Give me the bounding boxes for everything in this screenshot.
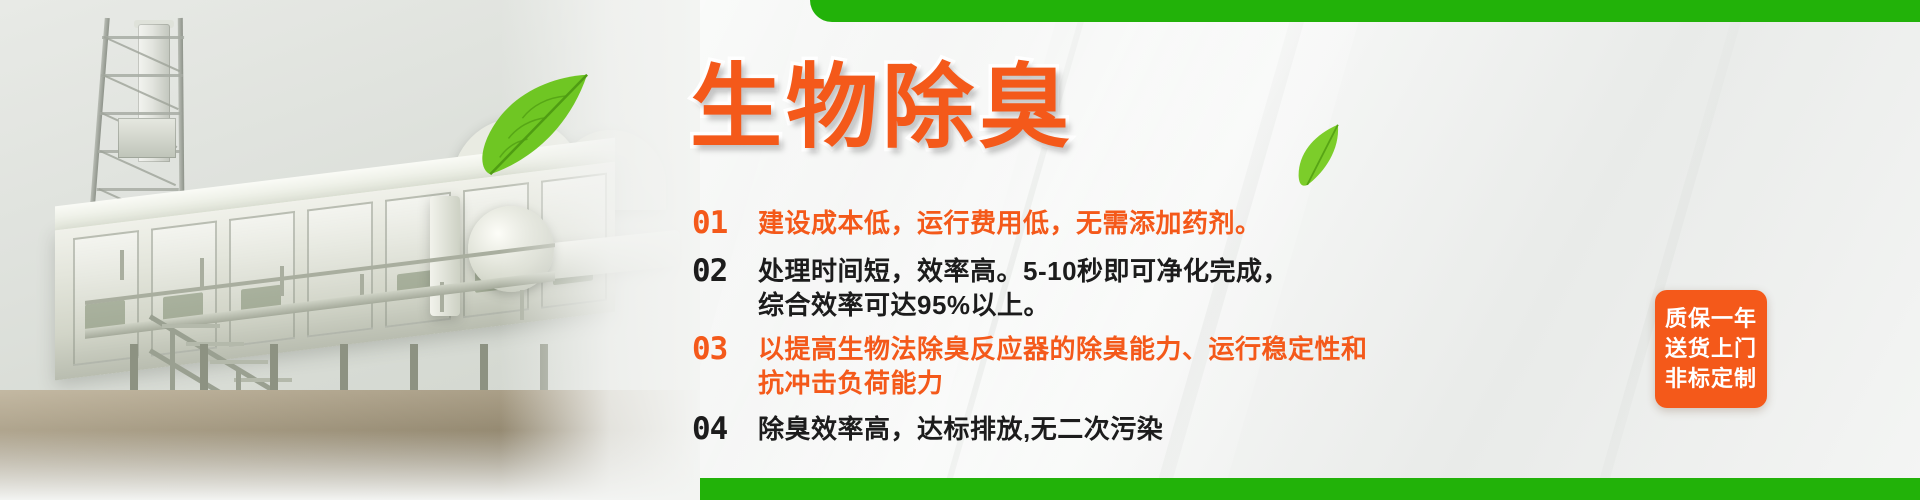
feature-item-01: 01 建设成本低，运行费用低，无需添加药剂。 (692, 206, 1692, 240)
feature-item-04: 04 除臭效率高，达标排放,无二次污染 (692, 412, 1692, 446)
feature-number: 02 (692, 254, 754, 288)
content-column: 生物除臭 01 建设成本低，运行费用低，无需添加药剂。 02 处理时间短，效率高… (680, 0, 1920, 500)
feature-line-2: 抗冲击负荷能力 (758, 366, 1368, 400)
feature-line-2: 综合效率可达95%以上。 (758, 288, 1289, 322)
feature-number: 01 (692, 206, 754, 240)
feature-text: 建设成本低，运行费用低，无需添加药剂。 (754, 206, 1262, 240)
badge-line-3: 非标定制 (1665, 364, 1757, 394)
equipment-photo (0, 0, 700, 500)
feature-item-02: 02 处理时间短，效率高。5-10秒即可净化完成， 综合效率可达95%以上。 (692, 254, 1692, 322)
feature-line-1: 除臭效率高，达标排放,无二次污染 (758, 414, 1163, 444)
feature-number: 03 (692, 332, 754, 366)
badge-line-2: 送货上门 (1665, 334, 1757, 364)
guarantee-badge[interactable]: 质保一年 送货上门 非标定制 (1655, 290, 1767, 408)
page-title: 生物除臭 (690, 62, 1074, 154)
promo-banner: 生物除臭 01 建设成本低，运行费用低，无需添加药剂。 02 处理时间短，效率高… (0, 0, 1920, 500)
feature-line-1: 处理时间短，效率高。5-10秒即可净化完成， (758, 256, 1289, 286)
feature-line-1: 以提高生物法除臭反应器的除臭能力、运行稳定性和 (758, 334, 1368, 364)
feature-text: 以提高生物法除臭反应器的除臭能力、运行稳定性和 抗冲击负荷能力 (754, 332, 1368, 400)
feature-text: 除臭效率高，达标排放,无二次污染 (754, 412, 1163, 446)
feature-number: 04 (692, 412, 754, 446)
feature-text: 处理时间短，效率高。5-10秒即可净化完成， 综合效率可达95%以上。 (754, 254, 1289, 322)
badge-line-1: 质保一年 (1665, 304, 1757, 334)
feature-line-1: 建设成本低，运行费用低，无需添加药剂。 (758, 208, 1262, 238)
feature-list: 01 建设成本低，运行费用低，无需添加药剂。 02 处理时间短，效率高。5-10… (692, 206, 1692, 458)
feature-item-03: 03 以提高生物法除臭反应器的除臭能力、运行稳定性和 抗冲击负荷能力 (692, 332, 1692, 400)
